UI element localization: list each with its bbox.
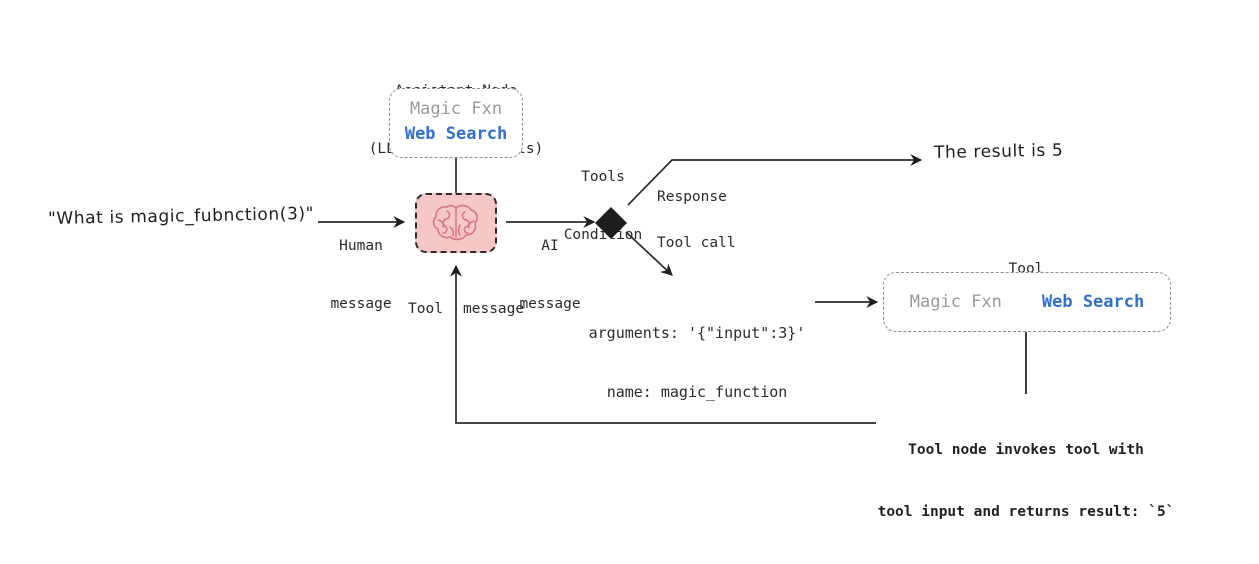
branch-label-response: Response (657, 188, 727, 207)
tools-condition-line1: Tools (530, 168, 676, 187)
edge-label-tool-message-right: message (463, 300, 524, 319)
assistant-tool-magic-fxn[interactable]: Magic Fxn (410, 98, 502, 120)
diamond-decision-icon (593, 205, 629, 241)
brain-icon (430, 202, 482, 244)
assistant-node[interactable] (415, 193, 497, 253)
edge-label-human-top: Human (311, 237, 411, 256)
tool-call-payload: arguments: '{"input":3}' name: magic_fun… (581, 284, 813, 442)
final-result-note: The result is 5 (934, 141, 1064, 163)
tools-condition-node[interactable] (593, 205, 629, 245)
edge-label-tool-message-left: Tool (408, 300, 443, 319)
tool-return-note-line2: tool input and returns result: `5` (876, 503, 1176, 522)
edge-label-human-message: Human message (311, 199, 411, 352)
tool-node-tool-magic-fxn[interactable]: Magic Fxn (910, 291, 1002, 313)
assistant-bound-tools-box[interactable]: Magic Fxn Web Search (389, 88, 523, 158)
assistant-tool-web-search[interactable]: Web Search (405, 123, 507, 145)
tool-return-note-line1: Tool node invokes tool with (876, 441, 1176, 460)
tool-call-payload-name: name: magic_function (581, 383, 813, 403)
tool-call-payload-arguments: arguments: '{"input":3}' (581, 324, 813, 344)
diagram-canvas: Assistant Node (LLM w/ bound tools) Magi… (0, 0, 1259, 492)
user-input-message: "What is magic_fubnction(3)" (48, 204, 314, 229)
tool-return-note: Tool node invokes tool with tool input a… (876, 399, 1176, 564)
tool-node-box[interactable]: Magic Fxn Web Search (883, 272, 1171, 332)
branch-label-tool-call: Tool call (657, 234, 736, 253)
edge-label-human-bottom: message (311, 295, 411, 314)
tool-node-tool-web-search[interactable]: Web Search (1042, 291, 1144, 313)
